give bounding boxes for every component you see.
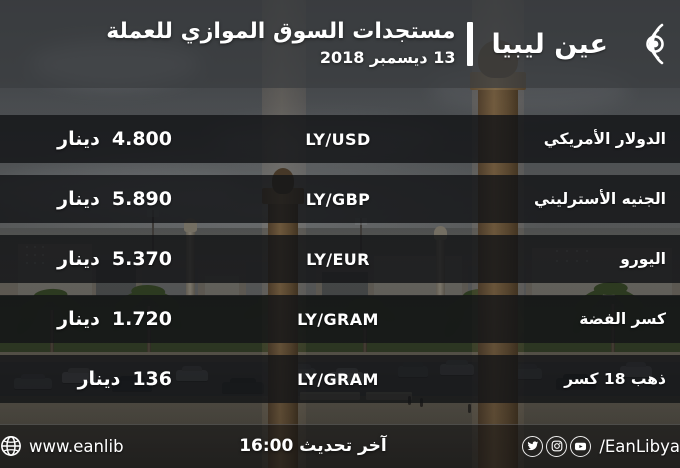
row-pair: LY/GRAM [186,310,490,329]
instagram-icon[interactable] [546,436,567,457]
row-value-unit: دينار [57,248,100,270]
row-pair: LY/USD [186,130,490,149]
row-value: 4.800 دينار [0,128,186,150]
website-link[interactable]: www.eanlib [0,435,124,457]
row-value: 5.370 دينار [0,248,186,270]
row-label: ذهب 18 كسر [490,370,680,388]
rates-table: الدولار الأمريكي LY/USD 4.800 دينار الجن… [0,115,680,403]
row-value: 136 دينار [0,368,186,390]
row-label: الجنيه الأسترليني [490,190,680,208]
rate-card: عين ليبيا مستجدات السوق الموازي للعملة 1… [0,0,680,468]
table-row[interactable]: اليورو LY/EUR 5.370 دينار [0,235,680,283]
row-value-number: 4.800 [112,128,172,150]
row-value-unit: دينار [57,128,100,150]
row-label: اليورو [490,250,680,268]
footer-bar: /EanLibya آخر تحديث 16:00 www.eanlib [0,424,680,468]
page-title: مستجدات السوق الموازي للعملة [0,19,455,45]
website-url[interactable]: www.eanlib [29,437,124,456]
row-pair: LY/GBP [186,190,490,209]
row-value-number: 5.890 [112,188,172,210]
row-value-unit: دينار [57,308,100,330]
header-text-block: مستجدات السوق الموازي للعملة 13 ديسمبر 2… [0,19,459,69]
last-update-text: آخر تحديث 16:00 [90,436,537,456]
row-pair: LY/EUR [186,250,490,269]
row-label: الدولار الأمريكي [490,130,680,148]
row-value: 5.890 دينار [0,188,186,210]
table-row[interactable]: كسر الفضة LY/GRAM 1.720 دينار [0,295,680,343]
header-divider [467,22,473,66]
row-value: 1.720 دينار [0,308,186,330]
row-value-unit: دينار [57,188,100,210]
row-value-number: 136 [132,368,172,390]
eye-logo-icon [614,18,666,70]
globe-icon [0,435,22,457]
social-links[interactable]: /EanLibya [522,436,680,457]
header-date: 13 ديسمبر 2018 [0,48,455,69]
youtube-icon[interactable] [570,436,591,457]
footer-divider [0,424,680,425]
row-label: كسر الفضة [490,310,680,328]
row-pair: LY/GRAM [186,370,490,389]
header-bar: عين ليبيا مستجدات السوق الموازي للعملة 1… [0,0,680,88]
row-value-number: 1.720 [112,308,172,330]
brand-name: عين ليبيا [491,31,608,58]
table-row[interactable]: ذهب 18 كسر LY/GRAM 136 دينار [0,355,680,403]
table-row[interactable]: الدولار الأمريكي LY/USD 4.800 دينار [0,115,680,163]
row-value-unit: دينار [78,368,121,390]
row-value-number: 5.370 [112,248,172,270]
table-row[interactable]: الجنيه الأسترليني LY/GBP 5.890 دينار [0,175,680,223]
social-handle[interactable]: /EanLibya [599,437,680,456]
brand-logo[interactable]: عين ليبيا [485,18,666,70]
